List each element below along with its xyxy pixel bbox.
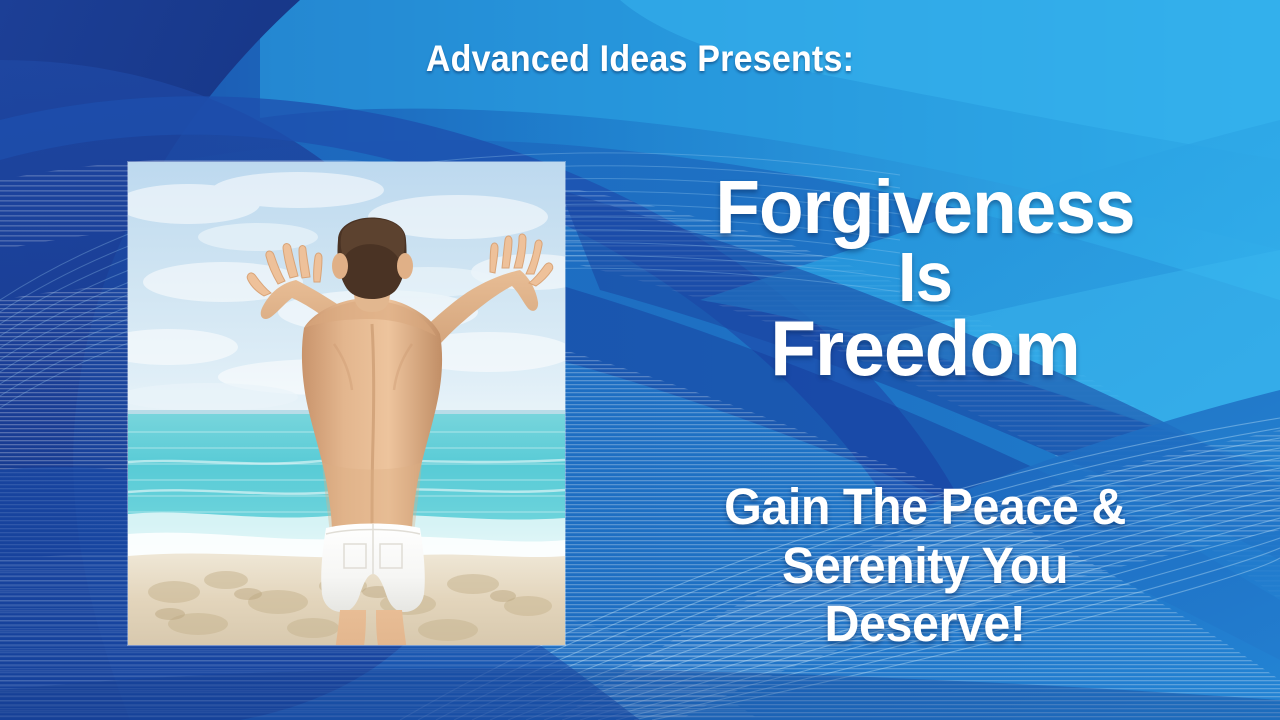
title-line-2: Is	[603, 244, 1246, 311]
beach-photo	[128, 162, 565, 645]
subtitle-line-1: Gain The Peace &	[607, 478, 1244, 537]
beach-photo-image	[128, 162, 565, 645]
page-title: Advanced Ideas Presents:	[51, 38, 1229, 80]
subtitle-line-2: Serenity You	[607, 537, 1244, 596]
subtitle: Gain The Peace & Serenity You Deserve!	[607, 478, 1244, 654]
title-line-1: Forgiveness	[603, 172, 1246, 244]
main-title: Forgiveness Is Freedom	[590, 172, 1260, 385]
presentation-slide: Advanced Ideas Presents:	[0, 0, 1280, 720]
subtitle-line-3: Deserve!	[607, 595, 1244, 654]
title-line-3: Freedom	[603, 311, 1246, 385]
